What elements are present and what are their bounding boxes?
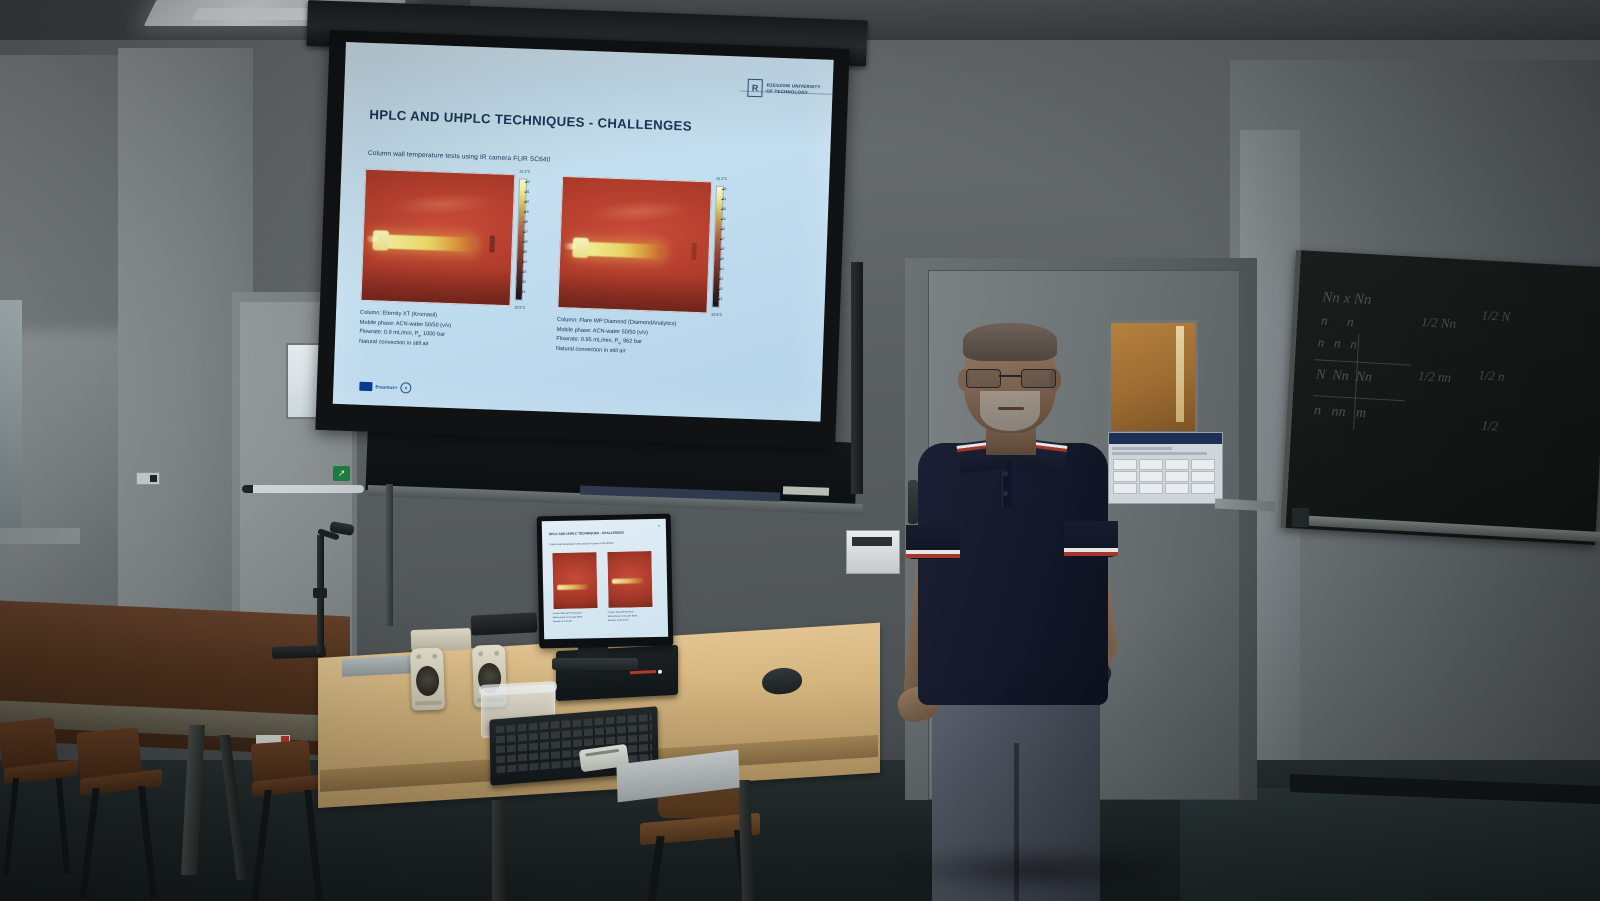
light-switch[interactable] (136, 472, 160, 485)
thermal-image-right: 32.3°C 32 31 30 29 28 27 26 25 24 (557, 176, 736, 314)
erasmus-footer: Erasmus+ ★ (359, 381, 411, 394)
chalk-line-1: Nn x Nn (1322, 290, 1372, 310)
thermal-image-left-frame (361, 169, 516, 306)
presenter-mouth (998, 407, 1024, 410)
chalkboard: Nn x Nn n n n n n N Nn Nn n nn m 1/2 Nn … (1280, 250, 1600, 545)
university-logo-mark: R (747, 79, 763, 98)
exit-sign: ↗ (333, 466, 350, 481)
presenter-left-sleeve (906, 525, 960, 559)
monitor-slide-title: HPLC AND UHPLC TECHNIQUES - CHALLENGES (549, 531, 624, 537)
university-logo: R RZESZOW UNIVERSITY OF TECHNOLOGY (747, 79, 821, 100)
temperature-scale-left: 32.3°C 32 31 30 29 28 27 26 25 24 (513, 174, 540, 305)
presenter-monitor[interactable]: R HPLC AND UHPLC TECHNIQUES - CHALLENGES… (537, 514, 674, 649)
chalk-line-5: n nn m (1314, 403, 1367, 422)
glasses-icon (966, 369, 1054, 387)
scale-max-label-right: 32.3°C (716, 177, 727, 181)
chalk-line-3: n n n (1317, 335, 1357, 352)
chalk-frac-5: 1/2 (1481, 419, 1498, 435)
presenter (836, 325, 1211, 901)
scale-min-label-left: 20.5°C (514, 305, 525, 309)
cofunded-icon: ★ (400, 382, 411, 393)
board-eraser[interactable] (783, 486, 829, 496)
monitor-caption-right: Column: Flare WP Diamond Mobile phase: A… (608, 611, 638, 624)
erasmus-label: Erasmus+ (375, 384, 397, 390)
scale-max-label-left: 32.3°C (519, 169, 530, 173)
pc-case[interactable] (556, 645, 678, 701)
chalk-line-2: n n (1321, 314, 1354, 331)
slide-title: HPLC AND UHPLC TECHNIQUES - CHALLENGES (369, 107, 692, 134)
desk-lamp-joint[interactable] (313, 588, 327, 598)
caption-right: Column: Flare WP Diamond (DiamondAnalyti… (556, 316, 677, 359)
exit-arrow-icon: ↗ (338, 469, 346, 478)
monitor-screen: R HPLC AND UHPLC TECHNIQUES - CHALLENGES… (542, 519, 668, 640)
lecture-room-photo: ↗ Nn x Nn n n n n n N Nn Nn n nn (0, 0, 1600, 901)
power-socket[interactable] (1292, 508, 1309, 527)
chalk-frac-1: 1/2 Nn (1421, 315, 1457, 332)
monitor-base (552, 658, 638, 670)
monitor-logo-icon: R (658, 525, 660, 528)
presenter-shadow (880, 846, 1190, 894)
floor-right (1180, 788, 1600, 901)
monitor-caption-left: Column: Eternity XT (Kromasil) Mobile ph… (553, 612, 583, 625)
presenter-polo-shirt (918, 443, 1108, 705)
left-speaker (410, 647, 445, 710)
presenter-desk-leg-1 (492, 800, 505, 901)
monitor-thermal-right (606, 550, 653, 609)
presenter-right-sleeve (1064, 521, 1118, 557)
left-door-push-bar[interactable] (242, 485, 364, 493)
temperature-scale-right: 32.3°C 32 31 30 29 28 27 26 25 24 (709, 182, 736, 313)
presenter-beard (980, 391, 1040, 431)
pc-power-led (658, 670, 662, 674)
chalk-frac-4: 1/2 n (1478, 368, 1505, 384)
column-tip-left (366, 236, 378, 242)
monitor-thermal-left (551, 551, 598, 610)
slide-subtitle: Column wall temperature tests using IR c… (368, 150, 551, 164)
power-strip[interactable] (471, 612, 538, 635)
chalk-frac-3: 1/2 nn (1418, 369, 1452, 386)
column-clip-right (691, 243, 697, 260)
caption-left: Column: Eternity XT (Kromasil) Mobile ph… (359, 309, 452, 351)
chalk-frac-2: 1/2 N (1481, 308, 1510, 325)
left-window-sill (0, 528, 80, 544)
monitor-slide-subtitle: Column wall temperature tests using IR c… (549, 542, 613, 546)
column-clip-left (489, 236, 495, 253)
presenter-hair (963, 323, 1057, 361)
chalk-line-4: N Nn Nn (1316, 367, 1373, 386)
column-tip-right (564, 243, 576, 249)
thermal-image-right-frame (557, 176, 712, 313)
thermal-image-row: 32.3°C 32 31 30 29 28 27 26 25 24 (361, 169, 809, 315)
scale-min-label-right: 20.5°C (711, 313, 722, 317)
board-post-left (386, 484, 393, 626)
thermal-image-left: 32.3°C 32 31 30 29 28 27 26 25 24 (361, 169, 540, 307)
eu-flag-icon (359, 382, 372, 391)
papers-stack-back (342, 655, 414, 677)
projected-slide: R RZESZOW UNIVERSITY OF TECHNOLOGY HPLC … (333, 42, 834, 422)
left-window (0, 300, 22, 540)
